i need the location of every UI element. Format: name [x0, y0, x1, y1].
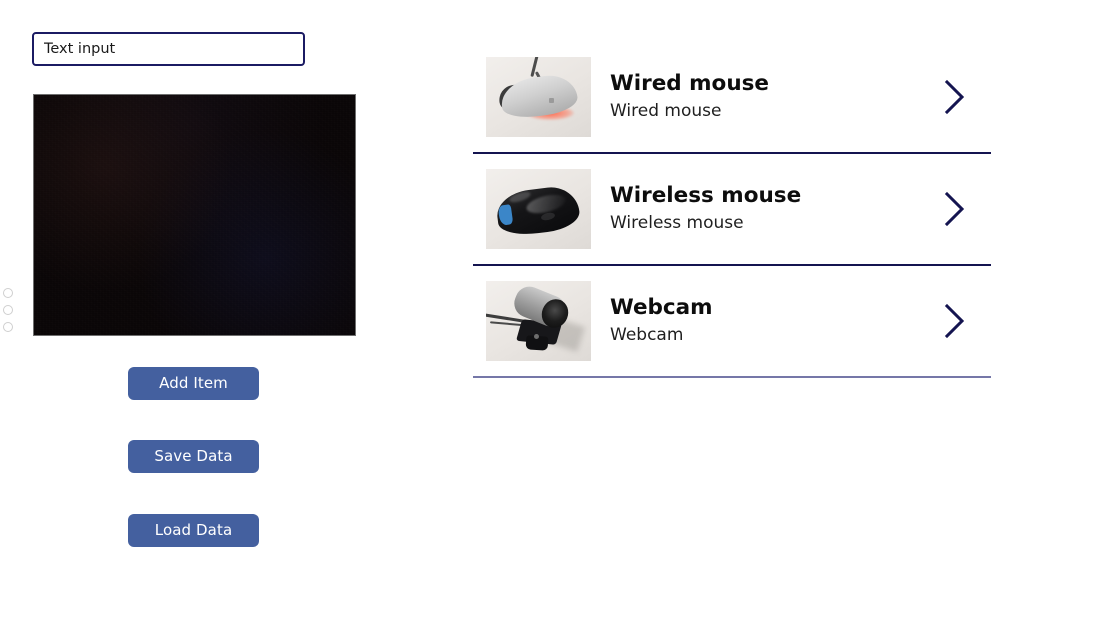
- chevron-right-icon[interactable]: [938, 301, 972, 341]
- left-panel: Add Item Save Data Load Data: [0, 0, 460, 621]
- text-input[interactable]: [32, 32, 305, 66]
- list-item-title: Webcam: [610, 295, 938, 322]
- list-item-subtitle: Wireless mouse: [610, 212, 938, 235]
- dot-1[interactable]: [3, 288, 13, 298]
- list-item-subtitle: Wired mouse: [610, 100, 938, 123]
- list-item-title: Wireless mouse: [610, 183, 938, 210]
- save-data-button[interactable]: Save Data: [128, 440, 259, 473]
- list-item-text: Wired mouse Wired mouse: [610, 71, 938, 123]
- list-item-wired-mouse[interactable]: Wired mouse Wired mouse: [473, 42, 991, 152]
- camera-preview: [33, 94, 356, 336]
- dot-cluster: [3, 288, 17, 339]
- add-item-button[interactable]: Add Item: [128, 367, 259, 400]
- load-data-button[interactable]: Load Data: [128, 514, 259, 547]
- list-item-webcam[interactable]: Webcam Webcam: [473, 266, 991, 376]
- dot-3[interactable]: [3, 322, 13, 332]
- list-item-text: Webcam Webcam: [610, 295, 938, 347]
- list-item-subtitle: Webcam: [610, 324, 938, 347]
- chevron-right-icon[interactable]: [938, 77, 972, 117]
- dot-2[interactable]: [3, 305, 13, 315]
- chevron-right-icon[interactable]: [938, 189, 972, 229]
- list-item-text: Wireless mouse Wireless mouse: [610, 183, 938, 235]
- wireless-mouse-thumbnail: [486, 169, 591, 249]
- list-item-wireless-mouse[interactable]: Wireless mouse Wireless mouse: [473, 154, 991, 264]
- list-separator: [473, 376, 991, 378]
- wired-mouse-thumbnail: [486, 57, 591, 137]
- webcam-thumbnail: [486, 281, 591, 361]
- camera-preview-noise: [34, 95, 355, 335]
- list-item-title: Wired mouse: [610, 71, 938, 98]
- device-list: Wired mouse Wired mouse Wireless mouse W…: [473, 42, 991, 378]
